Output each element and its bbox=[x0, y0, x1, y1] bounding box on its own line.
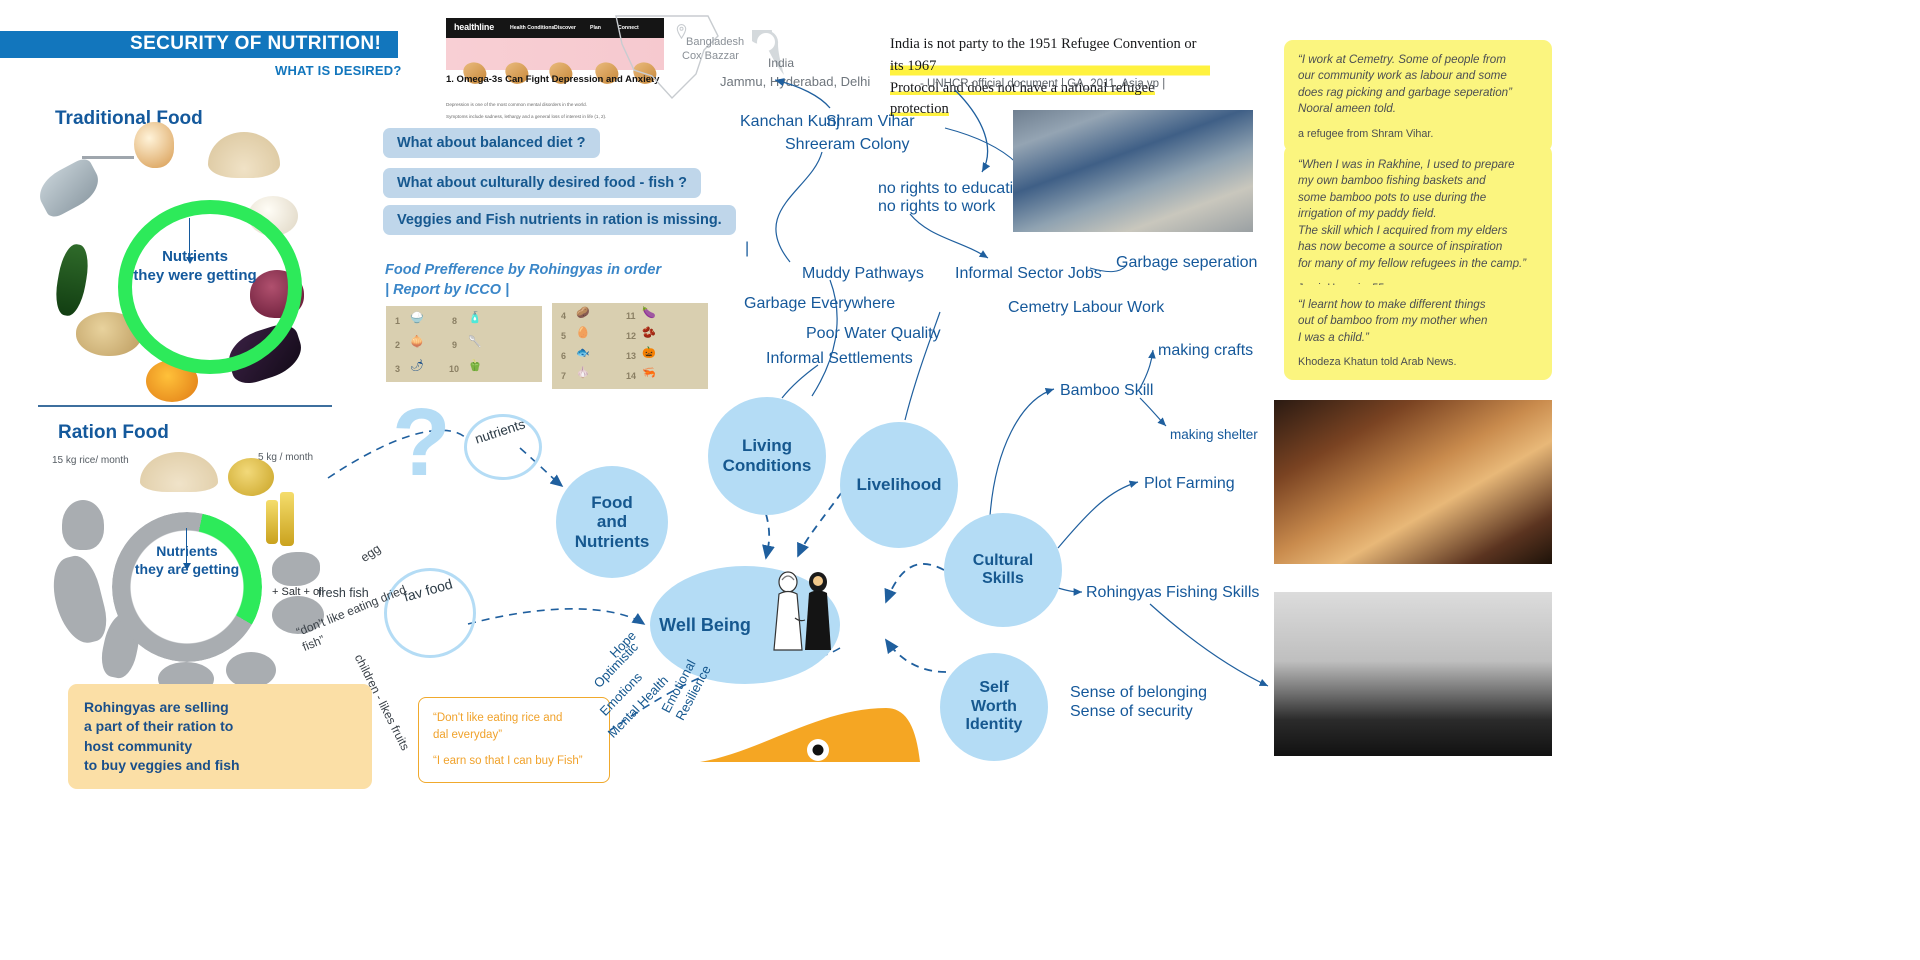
rice-food-image bbox=[208, 132, 280, 178]
refugee-family-photo bbox=[1274, 400, 1552, 564]
icco-rank: 12 bbox=[626, 331, 636, 341]
icco-rank: 9 bbox=[452, 340, 457, 350]
icco-rank: 11 bbox=[626, 311, 636, 321]
icco-rank: 7 bbox=[561, 371, 566, 381]
traditional-ring-label-line2: they were getting bbox=[130, 267, 260, 286]
living-node-poor-water-quality: Poor Water Quality bbox=[806, 325, 941, 343]
ration-selling-line: host community bbox=[84, 737, 356, 756]
spoon-icon: 🥄 bbox=[468, 337, 482, 348]
icco-rank: 10 bbox=[449, 364, 459, 374]
bubble-label-line: Self bbox=[966, 679, 1023, 697]
greyed-food-silhouette bbox=[272, 552, 320, 586]
quote-card-jomir-hossain: “When I was in Rakhine, I used to prepar… bbox=[1284, 145, 1552, 306]
question-mark-graphic: ? bbox=[392, 400, 451, 486]
livelihood-node-garbage-seperation: Garbage seperation bbox=[1116, 254, 1257, 272]
quote-line: has now become a source of inspiration bbox=[1298, 239, 1538, 255]
icco-rank: 13 bbox=[626, 351, 636, 361]
dietary-quote-line: “Don't like eating rice and bbox=[433, 710, 595, 727]
quote-line: some bamboo pots to use during the bbox=[1298, 190, 1538, 206]
question-pill-culturally-desired-food: What about culturally desired food - fis… bbox=[383, 168, 701, 198]
quote-line: irrigation of my paddy field. bbox=[1298, 206, 1538, 222]
bubble-living-conditions[interactable]: Living Conditions bbox=[708, 397, 826, 515]
ration-selling-line: a part of their ration to bbox=[84, 717, 356, 736]
icco-title-line1: Food Prefference by Rohingyas in order bbox=[385, 260, 661, 280]
shrimp-icon: 🦐 bbox=[642, 368, 656, 379]
healthline-nav-item[interactable]: Discover bbox=[554, 25, 576, 31]
oil-bottle-small-icon bbox=[266, 500, 278, 544]
cultural-node-plot-farming: Plot Farming bbox=[1144, 475, 1235, 493]
living-node-informal-settlements: Informal Settlements bbox=[766, 350, 913, 368]
camp-node-shram-vihar: Shram Vihar bbox=[826, 113, 915, 131]
pumpkin-icon: 🎃 bbox=[642, 348, 656, 359]
quote-card-khodeza-khatun: “I learnt how to make different things o… bbox=[1284, 285, 1552, 380]
dietary-quote-line: “I earn so that I can buy Fish” bbox=[433, 753, 595, 770]
healthline-nav-item[interactable]: Health Conditions bbox=[510, 25, 554, 31]
ration-dal-image bbox=[228, 458, 274, 496]
garlic-icon: 🧄 bbox=[576, 368, 590, 379]
onion-icon: 🧅 bbox=[410, 337, 424, 348]
green-chili-food-image bbox=[52, 242, 92, 318]
icco-preference-panel-right: 4 🥔 5 🥚 6 🐟 7 🧄 11 🍆 12 🫘 13 🎃 14 🦐 bbox=[552, 303, 708, 389]
ration-rice-image bbox=[140, 452, 218, 492]
quote-line: for many of my fellow refugees in the ca… bbox=[1298, 256, 1538, 272]
quote-attribution: Khodeza Khatun told Arab News. bbox=[1298, 356, 1538, 368]
icco-rank: 2 bbox=[395, 340, 400, 350]
couple-illustration bbox=[760, 566, 850, 656]
livelihood-node-cemetry-labour-work: Cemetry Labour Work bbox=[1008, 299, 1164, 317]
chili-icon: 🌶 bbox=[410, 361, 424, 372]
garbage-sorting-photo bbox=[1013, 110, 1253, 232]
living-node-garbage-everywhere: Garbage Everywhere bbox=[744, 295, 895, 313]
ration-selling-line: to buy veggies and fish bbox=[84, 756, 356, 775]
fish-food-image bbox=[32, 156, 106, 220]
bubble-label-line: Identity bbox=[966, 716, 1023, 734]
icco-preference-panel-left: 1 🍚 2 🧅 3 🌶 8 🧴 9 🥄 10 🫑 bbox=[386, 306, 542, 382]
quote-line: our community work as labour and some bbox=[1298, 68, 1538, 84]
rice-quantity-label: 15 kg rice/ month bbox=[52, 455, 129, 466]
page-title: SECURITY OF NUTRITION! bbox=[130, 33, 430, 55]
traditional-nutrients-ring bbox=[118, 200, 302, 374]
bubble-label-line: Living bbox=[723, 436, 812, 456]
greyed-food-silhouette bbox=[62, 500, 104, 550]
quote-line: my own bamboo fishing baskets and bbox=[1298, 173, 1538, 189]
india-map-label: India bbox=[768, 56, 794, 70]
bangladesh-map-label: Bangladesh bbox=[686, 36, 744, 48]
traditional-ring-label: Nutrients they were getting bbox=[130, 248, 260, 286]
icco-title-line2: | Report by ICCO | bbox=[385, 280, 661, 300]
eggplant-icon: 🍆 bbox=[642, 308, 656, 319]
icco-rank: 3 bbox=[395, 364, 400, 374]
bubble-label-line: Food bbox=[575, 493, 650, 513]
question-pill-balanced-diet: What about balanced diet ? bbox=[383, 128, 600, 158]
rice-bowl-icon: 🍚 bbox=[410, 313, 424, 324]
bubble-label-well-being: Well Being bbox=[659, 615, 751, 636]
quote-line: “I learnt how to make different things bbox=[1298, 297, 1538, 313]
fav-label-egg: egg bbox=[358, 542, 383, 565]
vertical-tick-mark: | bbox=[745, 240, 749, 258]
cultural-node-making-crafts: making crafts bbox=[1158, 342, 1253, 360]
dietary-quote-box: “Don't like eating rice and dal everyday… bbox=[418, 697, 610, 783]
traditional-food-heading: Traditional Food bbox=[55, 108, 203, 130]
quote-attribution: a refugee from Shram Vihar. bbox=[1298, 128, 1538, 140]
oil-bottle-icon: 🧴 bbox=[468, 313, 482, 324]
bubble-label-line: Skills bbox=[973, 570, 1033, 588]
quote-card-nooral-ameen: “I work at Cemetry. Some of people from … bbox=[1284, 40, 1552, 152]
ration-food-heading: Ration Food bbox=[58, 422, 169, 444]
fish-icon: 🐟 bbox=[576, 348, 590, 359]
quote-line: The skill which I acquired from my elder… bbox=[1298, 223, 1538, 239]
healthline-logo: healthline bbox=[454, 22, 494, 32]
unhcr-source-citation: - UNHCR official document | GA_2011_Asia… bbox=[920, 78, 1165, 90]
quote-line: does rag picking and garbage seperation” bbox=[1298, 85, 1538, 101]
ration-selling-line: Rohingyas are selling bbox=[84, 698, 356, 717]
quote-line: I was a child.” bbox=[1298, 330, 1538, 346]
selfworth-node-sense-of-belonging: Sense of belonging bbox=[1070, 684, 1207, 702]
egg-icon: 🥚 bbox=[576, 328, 590, 339]
bubble-label-line: Conditions bbox=[723, 456, 812, 476]
quote-line: Nooral ameen told. bbox=[1298, 101, 1538, 117]
rights-node-work: no rights to work bbox=[878, 198, 995, 216]
potato-icon: 🥔 bbox=[576, 308, 590, 319]
bubble-label-line: Worth bbox=[966, 698, 1023, 716]
quote-line: “I work at Cemetry. Some of people from bbox=[1298, 52, 1538, 68]
camp-node-shreeram-colony: Shreeram Colony bbox=[785, 136, 910, 154]
greyed-food-silhouette bbox=[226, 652, 276, 688]
traditional-ring-tick bbox=[82, 156, 134, 159]
fishermen-net-photo bbox=[1274, 592, 1552, 756]
question-pill-missing-nutrients: Veggies and Fish nutrients in ration is … bbox=[383, 205, 736, 235]
orange-fish-graphic bbox=[700, 700, 920, 762]
bubble-livelihood[interactable]: Livelihood bbox=[840, 422, 958, 548]
bubble-cultural-skills[interactable]: Cultural Skills bbox=[944, 513, 1062, 627]
living-node-muddy-pathways: Muddy Pathways bbox=[802, 265, 924, 283]
camp-node-kanchan-kunj: Kanchan Kunj bbox=[740, 113, 840, 131]
egg-food-image bbox=[134, 122, 174, 168]
icco-rank: 4 bbox=[561, 311, 566, 321]
india-cities-label: Jammu, Hyderabad, Delhi bbox=[720, 74, 870, 89]
icco-rank: 5 bbox=[561, 331, 566, 341]
cultural-node-bamboo-skill: Bamboo Skill bbox=[1060, 382, 1153, 400]
icco-rank: 8 bbox=[452, 316, 457, 326]
healthline-nav-item[interactable]: Plan bbox=[590, 25, 601, 31]
livelihood-node-informal-sector-jobs: Informal Sector Jobs bbox=[955, 265, 1102, 283]
bubble-label-line: Nutrients bbox=[575, 532, 650, 552]
ration-ring-label-line2: they are getting bbox=[120, 561, 254, 579]
bubble-food-and-nutrients[interactable]: Food and Nutrients bbox=[556, 466, 668, 578]
cultural-node-rohingyas-fishing-skills: Rohingyas Fishing Skills bbox=[1086, 584, 1259, 602]
traditional-ring-label-line1: Nutrients bbox=[130, 248, 260, 267]
quote-line: “When I was in Rakhine, I used to prepar… bbox=[1298, 157, 1538, 173]
icco-rank: 1 bbox=[395, 316, 400, 326]
healthline-paragraph: Symptoms include sadness, lethargy and a… bbox=[446, 114, 606, 119]
page-subtitle: WHAT IS DESIRED? bbox=[275, 63, 401, 78]
icco-report-title: Food Prefference by Rohingyas in order |… bbox=[385, 260, 661, 301]
connector-lines-layer bbox=[0, 0, 1920, 960]
icco-rank: 6 bbox=[561, 351, 566, 361]
rights-node-education: no rights to education bbox=[878, 180, 1031, 198]
dal-quantity-label: 5 kg / month bbox=[258, 452, 313, 463]
cultural-node-making-shelter: making shelter bbox=[1170, 427, 1258, 442]
unhcr-quote-line: India is not party to the 1951 Refugee C… bbox=[890, 34, 1210, 78]
oil-bottle-large-icon bbox=[280, 492, 294, 546]
dietary-quote-line: dal everyday” bbox=[433, 727, 595, 744]
bubble-label-line: Cultural bbox=[973, 552, 1033, 570]
cox-bazzar-map-label: Cox Bazzar bbox=[682, 50, 739, 62]
india-pin-shape-icon bbox=[752, 30, 796, 78]
bubble-label-line: and bbox=[575, 512, 650, 532]
greyed-food-silhouette bbox=[46, 552, 112, 649]
section-divider bbox=[38, 405, 332, 407]
quote-line: out of bamboo from my mother when bbox=[1298, 313, 1538, 329]
icco-rank: 14 bbox=[626, 371, 636, 381]
bubble-self-worth-identity[interactable]: Self Worth Identity bbox=[940, 653, 1048, 761]
ration-ring-label-line1: Nutrients bbox=[120, 543, 254, 561]
green-chili-icon: 🫑 bbox=[468, 361, 482, 372]
ration-nutrients-ring bbox=[112, 512, 262, 662]
selfworth-node-sense-of-security: Sense of security bbox=[1070, 703, 1193, 721]
ration-ring-label: Nutrients they are getting bbox=[120, 543, 254, 578]
healthline-paragraph: Depression is one of the most common men… bbox=[446, 102, 587, 107]
dal-pile-icon: 🫘 bbox=[642, 328, 656, 339]
ration-selling-callout: Rohingyas are selling a part of their ra… bbox=[68, 684, 372, 789]
